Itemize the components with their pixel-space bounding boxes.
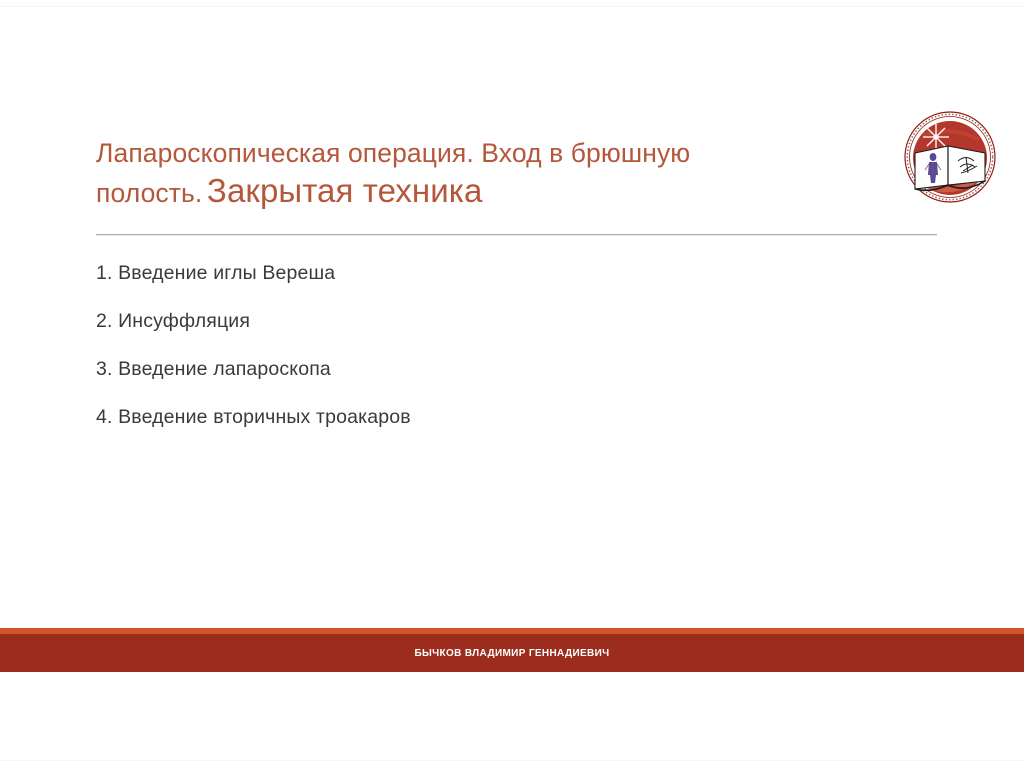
emblem-icon [903, 109, 997, 205]
list-item: 2. Инсуффляция [96, 298, 796, 346]
title-line-2-emphasis: Закрытая техника [207, 172, 483, 209]
list-item: 4. Введение вторичных троакаров [96, 394, 796, 442]
page-edge-bottom [0, 760, 1024, 761]
list-item: 3. Введение лапароскопа [96, 346, 796, 394]
footer-author: БЫЧКОВ ВЛАДИМИР ГЕННАДИЕВИЧ [0, 634, 1024, 672]
title-line-2-prefix: полость. [96, 178, 202, 208]
title-line-2: полость. Закрытая техника [96, 170, 886, 213]
title-divider [96, 234, 937, 236]
slide-title: Лапароскопическая операция. Вход в брюшн… [96, 136, 886, 213]
title-line-1: Лапароскопическая операция. Вход в брюшн… [96, 136, 886, 170]
numbered-list: 1. Введение иглы Вереша 2. Инсуффляция 3… [96, 250, 796, 442]
slide-canvas: Лапароскопическая операция. Вход в брюшн… [0, 0, 1024, 767]
society-emblem-logo [903, 109, 997, 205]
page-edge-top [0, 6, 1024, 7]
list-item: 1. Введение иглы Вереша [96, 250, 796, 298]
